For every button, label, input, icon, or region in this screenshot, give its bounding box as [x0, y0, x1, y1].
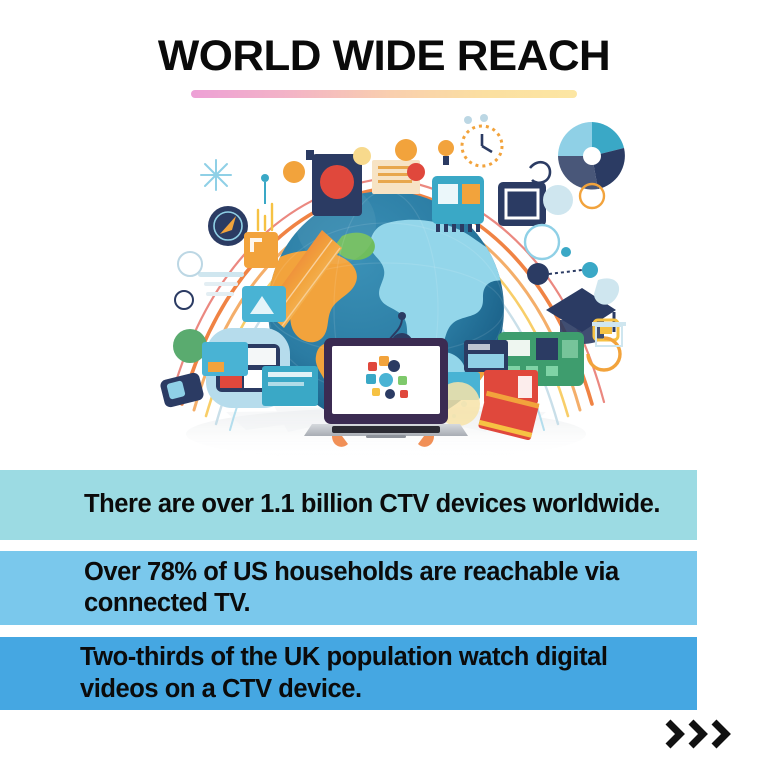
circuit-board-green-icon — [496, 284, 580, 336]
fact-band-1-text: There are over 1.1 billion CTV devices w… — [0, 489, 674, 520]
snowflake-icon — [201, 160, 231, 190]
chevron-right-icon-3 — [710, 718, 732, 750]
infographic-poster: WORLD WIDE REACH — [0, 0, 768, 768]
camera-icon — [159, 372, 205, 409]
circle-outline-decor-2 — [175, 291, 193, 309]
book-icon — [262, 366, 318, 406]
cream-dot-decor — [353, 147, 371, 165]
global-connected-technology-illustration — [146, 104, 626, 456]
monitor-icon — [498, 182, 546, 226]
sticky-note-icon — [202, 342, 248, 376]
window-frame-icon — [242, 286, 286, 322]
next-chevrons[interactable] — [664, 718, 732, 750]
circle-outline-decor — [178, 252, 202, 276]
lightbulb-icon — [438, 140, 454, 165]
title-underline-gradient — [191, 90, 577, 98]
feather-icon — [594, 278, 619, 304]
ribbon-decor — [530, 162, 550, 183]
fact-band-2-text: Over 78% of US households are reachable … — [0, 557, 697, 619]
chart-bars-icon — [258, 174, 272, 230]
fact-band-1: There are over 1.1 billion CTV devices w… — [0, 470, 697, 540]
page-title: WORLD WIDE REACH — [0, 34, 768, 79]
fact-band-3: Two-thirds of the UK population watch di… — [0, 637, 697, 710]
folder-icon — [244, 232, 278, 268]
pie-chart-icon — [558, 122, 625, 190]
orange-dot-decor — [283, 161, 305, 183]
microchip-icon — [432, 176, 484, 232]
compass-icon — [208, 206, 248, 246]
red-dot-decor — [407, 163, 425, 181]
browser-window-icon — [464, 340, 508, 372]
title-block: WORLD WIDE REACH — [0, 34, 768, 98]
green-circle-decor — [173, 329, 207, 363]
fact-band-2: Over 78% of US households are reachable … — [0, 551, 697, 625]
fact-band-3-text: Two-thirds of the UK population watch di… — [0, 642, 697, 704]
document-lines-icon — [198, 272, 244, 296]
chevron-right-icon — [664, 718, 686, 750]
light-circle-decor — [543, 185, 573, 215]
navy-dots-decor — [464, 114, 488, 124]
laptop-icon — [304, 338, 468, 438]
chevron-right-icon-2 — [687, 718, 709, 750]
clock-icon — [462, 126, 502, 166]
